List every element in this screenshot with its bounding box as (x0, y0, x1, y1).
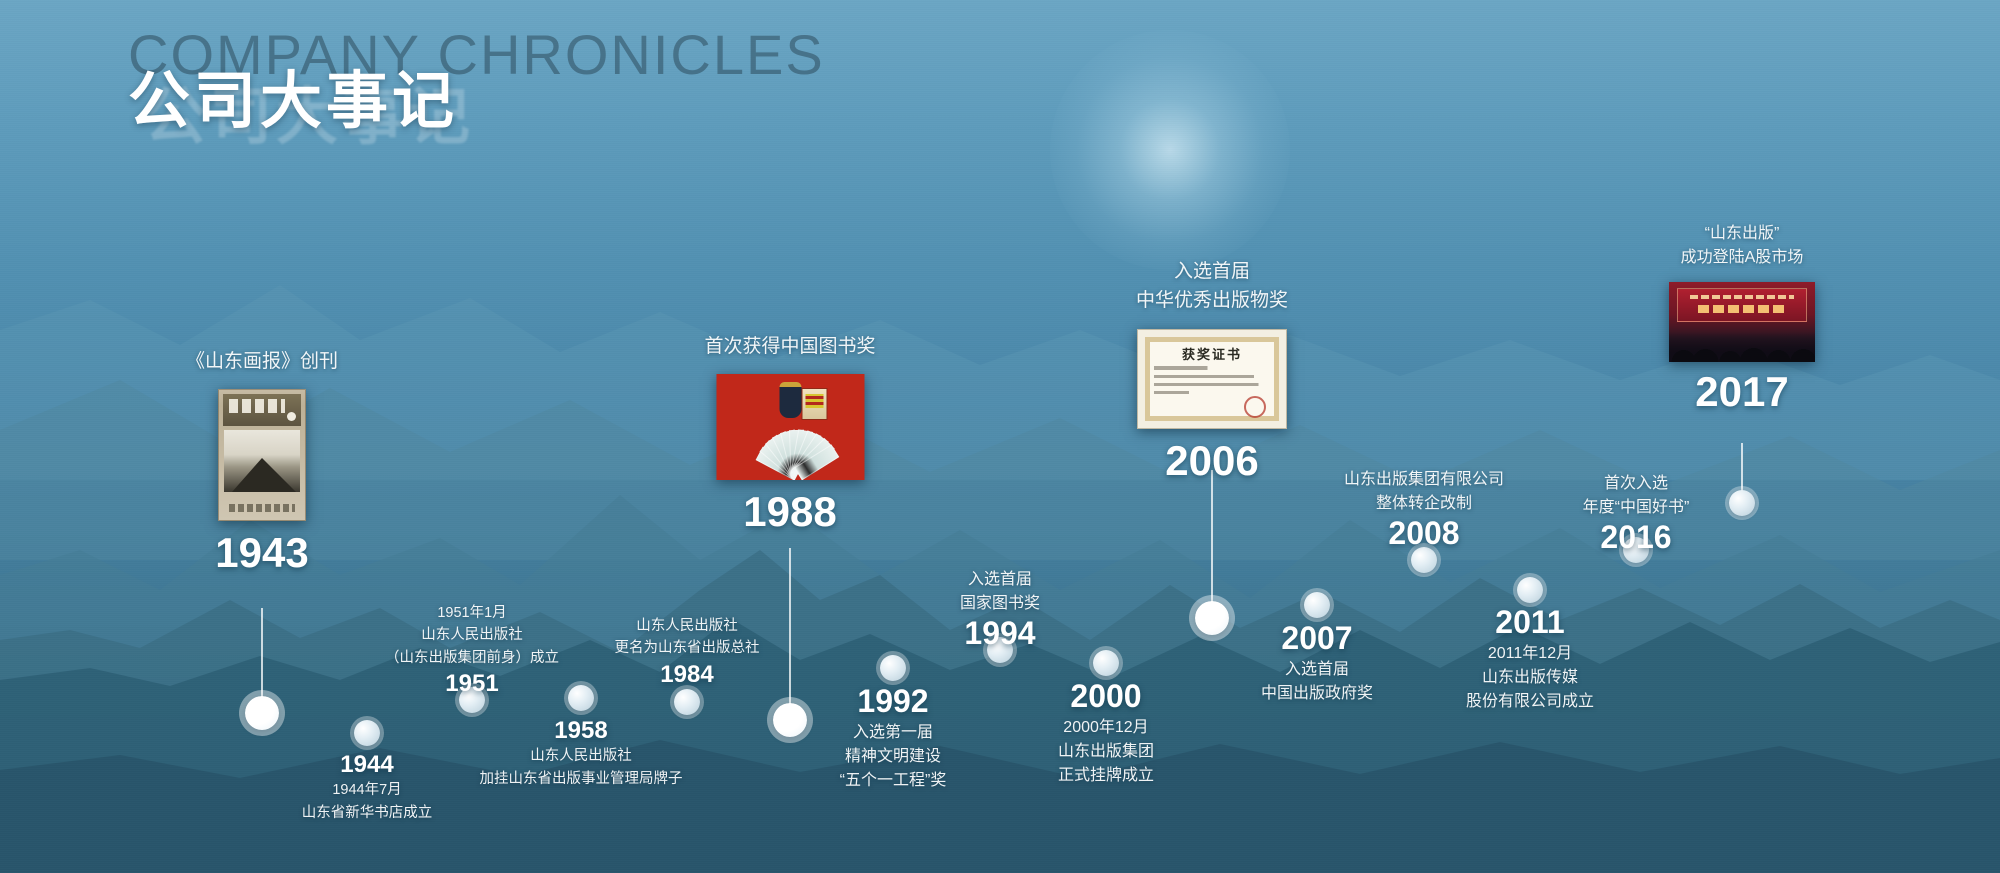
event-1984-node[interactable] (674, 689, 700, 715)
event-2006-stem (1211, 470, 1213, 615)
timeline-event-2008[interactable]: 山东出版集团有限公司 整体转企改制 2008 (1344, 468, 1504, 551)
event-1943-photo (218, 389, 306, 521)
event-1984-line1: 山东人民出版社 (615, 615, 760, 637)
event-2006-line1: 入选首届 (1136, 258, 1288, 287)
timeline-event-1984[interactable]: 山东人民出版社 更名为山东省出版总社 1984 (615, 615, 760, 687)
event-1994-line2: 国家图书奖 (960, 592, 1040, 616)
event-2006-line2: 中华优秀出版物奖 (1136, 287, 1288, 316)
timeline-event-1944[interactable]: 1944 1944年7月 山东省新华书店成立 (302, 752, 433, 824)
event-1943-caption: 《山东画报》创刊 (186, 348, 338, 377)
event-1951-line1: 1951年1月 (385, 602, 559, 624)
event-2000-year: 2000 (1058, 680, 1154, 714)
infographic-canvas: COMPANY CHRONICLES 公司大事记 公司大事记 《山东画报》创刊 … (0, 0, 2000, 873)
event-1958-node[interactable] (568, 685, 594, 711)
event-2016-line2: 年度“中国好书” (1583, 496, 1690, 520)
timeline-event-1994[interactable]: 入选首届 国家图书奖 1994 (960, 568, 1040, 651)
event-1958-line1: 山东人民出版社 (480, 745, 683, 767)
event-1992-line2: 精神文明建设 (840, 745, 947, 769)
event-2000-line1: 2000年12月 (1058, 716, 1154, 740)
event-2011-line2: 山东出版传媒 (1466, 666, 1594, 690)
timeline-event-1992[interactable]: 1992 入选第一届 精神文明建设 “五个一工程”奖 (840, 685, 947, 793)
event-1988-node[interactable] (773, 703, 807, 737)
page-title-chinese-wrap: 公司大事记 公司大事记 (128, 50, 458, 140)
timeline-event-2000[interactable]: 2000 2000年12月 山东出版集团 正式挂牌成立 (1058, 680, 1154, 788)
event-2007-year: 2007 (1261, 622, 1373, 656)
event-2000-node[interactable] (1093, 650, 1119, 676)
event-1994-year: 1994 (960, 617, 1040, 651)
event-1943-year: 1943 (186, 531, 338, 575)
event-2007-line1: 入选首届 (1261, 658, 1373, 682)
event-2008-line1: 山东出版集团有限公司 (1344, 468, 1504, 492)
timeline-event-1958[interactable]: 1958 山东人民出版社 加挂山东省出版事业管理局牌子 (480, 718, 683, 790)
event-2017-photo (1669, 282, 1815, 362)
event-1951-line3: （山东出版集团前身）成立 (385, 647, 559, 669)
event-1992-node[interactable] (880, 655, 906, 681)
event-2011-node[interactable] (1517, 577, 1543, 603)
event-2008-year: 2008 (1344, 517, 1504, 551)
event-2006-photo: 获奖证书 (1137, 329, 1287, 429)
event-1951-year: 1951 (385, 671, 559, 696)
event-2016-year: 2016 (1583, 521, 1690, 555)
timeline-event-2017[interactable]: “山东出版” 成功登陆A股市场 2017 (1669, 222, 1815, 414)
event-2017-year: 2017 (1669, 370, 1815, 414)
timeline-event-1988[interactable]: 首次获得中国图书奖 1988 (704, 333, 875, 534)
timeline-event-2007[interactable]: 2007 入选首届 中国出版政府奖 (1261, 622, 1373, 706)
event-1988-caption: 首次获得中国图书奖 (704, 333, 875, 362)
event-1958-year: 1958 (480, 718, 683, 743)
timeline-event-2016[interactable]: 首次入选 年度“中国好书” 2016 (1583, 472, 1690, 555)
timeline-event-1951[interactable]: 1951年1月 山东人民出版社 （山东出版集团前身）成立 1951 (385, 602, 559, 697)
event-1984-year: 1984 (615, 662, 760, 687)
event-1984-line2: 更名为山东省出版总社 (615, 637, 760, 659)
event-2006-node[interactable] (1195, 601, 1229, 635)
event-2007-line2: 中国出版政府奖 (1261, 682, 1373, 706)
event-1992-line1: 入选第一届 (840, 721, 947, 745)
event-1992-year: 1992 (840, 685, 947, 719)
event-1944-line1: 1944年7月 (302, 779, 433, 801)
event-1943-node[interactable] (245, 696, 279, 730)
event-1988-year: 1988 (704, 490, 875, 534)
timeline-event-2011[interactable]: 2011 2011年12月 山东出版传媒 股份有限公司成立 (1466, 606, 1594, 714)
event-2011-line1: 2011年12月 (1466, 642, 1594, 666)
event-2000-line2: 山东出版集团 (1058, 740, 1154, 764)
event-1944-year: 1944 (302, 752, 433, 777)
event-2008-line2: 整体转企改制 (1344, 492, 1504, 516)
event-1988-photo (716, 374, 864, 480)
event-2017-line2: 成功登陆A股市场 (1669, 246, 1815, 270)
timeline-event-1943[interactable]: 《山东画报》创刊 1943 (186, 348, 338, 575)
event-1951-line2: 山东人民出版社 (385, 624, 559, 646)
event-2017-node[interactable] (1729, 490, 1755, 516)
event-1958-line2: 加挂山东省出版事业管理局牌子 (480, 768, 683, 790)
event-2011-line3: 股份有限公司成立 (1466, 690, 1594, 714)
event-2006-year: 2006 (1136, 439, 1288, 483)
event-2007-node[interactable] (1304, 592, 1330, 618)
event-1992-line3: “五个一工程”奖 (840, 769, 947, 793)
event-1988-stem (789, 548, 791, 720)
event-2011-year: 2011 (1466, 606, 1594, 640)
event-1944-line2: 山东省新华书店成立 (302, 802, 433, 824)
event-2017-line1: “山东出版” (1669, 222, 1815, 246)
event-1944-node[interactable] (354, 720, 380, 746)
event-2016-line1: 首次入选 (1583, 472, 1690, 496)
timeline-event-2006[interactable]: 入选首届 中华优秀出版物奖 获奖证书 2006 (1136, 258, 1288, 483)
mountain-layer-base (0, 700, 2000, 873)
event-2000-line3: 正式挂牌成立 (1058, 764, 1154, 788)
event-1994-line1: 入选首届 (960, 568, 1040, 592)
page-title-chinese: 公司大事记 (128, 50, 458, 140)
